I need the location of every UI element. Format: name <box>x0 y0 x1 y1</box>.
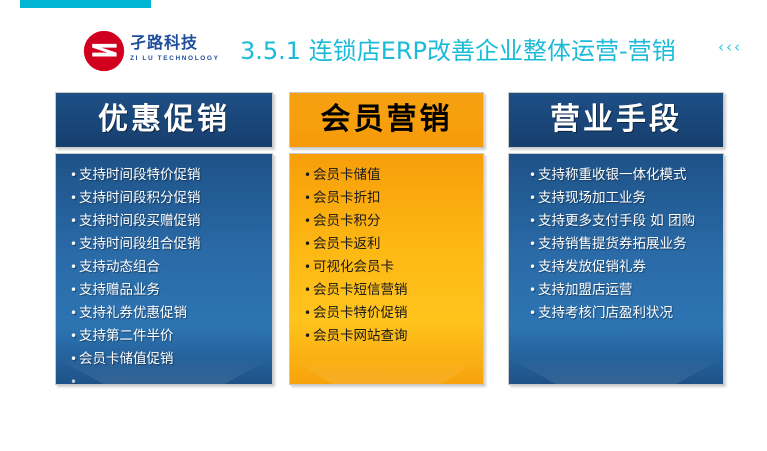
list-item: 会员卡储值 <box>304 164 483 187</box>
column-list-business-methods: 支持称重收银一体化模式 支持现场加工业务 支持更多支付手段 如 团购 支持销售提… <box>509 154 723 325</box>
list-item: 支持销售提货券拓展业务 <box>529 233 723 256</box>
column-header-business-methods: 营业手段 <box>508 92 724 148</box>
column-title: 营业手段 <box>550 103 682 137</box>
column-body-member-marketing: 会员卡储值 会员卡折扣 会员卡积分 会员卡返利 可视化会员卡 会员卡短信营销 会… <box>289 153 484 385</box>
top-accent-bar <box>20 0 151 8</box>
column-header-member-marketing: 会员营销 <box>289 92 484 148</box>
list-item: 会员卡储值促销 <box>70 348 272 371</box>
list-item: 支持时间段特价促销 <box>70 164 272 187</box>
column-header-promotions: 优惠促销 <box>55 92 273 148</box>
list-item: 支持时间段组合促销 <box>70 233 272 256</box>
list-item: 支持加盟店运营 <box>529 279 723 302</box>
company-logo: 孑路科技 ZI LU TECHNOLOGY <box>83 28 238 74</box>
column-body-business-methods: 支持称重收银一体化模式 支持现场加工业务 支持更多支付手段 如 团购 支持销售提… <box>508 153 724 385</box>
list-item: 支持赠品业务 <box>70 279 272 302</box>
list-item: 会员卡折扣 <box>304 187 483 210</box>
content-columns: 优惠促销 支持时间段特价促销 支持时间段积分促销 支持时间段买赠促销 支持时间段… <box>0 92 767 392</box>
logo-text-block: 孑路科技 ZI LU TECHNOLOGY <box>130 34 238 63</box>
list-item: 支持时间段买赠促销 <box>70 210 272 233</box>
list-item: 会员卡网站查询 <box>304 325 483 348</box>
list-item: … … <box>70 371 272 385</box>
chevron-left-icon: ‹ <box>726 40 732 55</box>
column-list-member-marketing: 会员卡储值 会员卡折扣 会员卡积分 会员卡返利 可视化会员卡 会员卡短信营销 会… <box>290 154 483 348</box>
list-item: 支持动态组合 <box>70 256 272 279</box>
list-item: 会员卡积分 <box>304 210 483 233</box>
logo-company-en: ZI LU TECHNOLOGY <box>130 54 238 63</box>
column-title: 会员营销 <box>321 103 453 137</box>
slide-header: 孑路科技 ZI LU TECHNOLOGY 3.5.1 连锁店ERP改善企业整体… <box>0 12 767 72</box>
column-business-methods: 营业手段 支持称重收银一体化模式 支持现场加工业务 支持更多支付手段 如 团购 … <box>508 92 724 385</box>
list-item: 支持时间段积分促销 <box>70 187 272 210</box>
list-item: 会员卡特价促销 <box>304 302 483 325</box>
list-item: 支持更多支付手段 如 团购 <box>529 210 723 233</box>
list-item: 支持发放促销礼券 <box>529 256 723 279</box>
column-body-promotions: 支持时间段特价促销 支持时间段积分促销 支持时间段买赠促销 支持时间段组合促销 … <box>55 153 273 385</box>
list-item: 支持考核门店盈利状况 <box>529 302 723 325</box>
logo-company-cn: 孑路科技 <box>130 34 238 52</box>
chevron-left-icon: ‹ <box>718 40 724 55</box>
column-member-marketing: 会员营销 会员卡储值 会员卡折扣 会员卡积分 会员卡返利 可视化会员卡 会员卡短… <box>289 92 484 385</box>
list-item: 支持现场加工业务 <box>529 187 723 210</box>
list-item: 支持称重收银一体化模式 <box>529 164 723 187</box>
list-item: 支持第二件半价 <box>70 325 272 348</box>
zilu-logo-mark-icon <box>83 30 125 72</box>
chevron-left-icon: ‹ <box>734 40 740 55</box>
column-promotions: 优惠促销 支持时间段特价促销 支持时间段积分促销 支持时间段买赠促销 支持时间段… <box>55 92 273 385</box>
column-title: 优惠促销 <box>98 103 230 137</box>
column-list-promotions: 支持时间段特价促销 支持时间段积分促销 支持时间段买赠促销 支持时间段组合促销 … <box>56 154 272 385</box>
list-item: 会员卡短信营销 <box>304 279 483 302</box>
list-item: 会员卡返利 <box>304 233 483 256</box>
page-title: 3.5.1 连锁店ERP改善企业整体运营-营销 <box>240 31 676 66</box>
chevron-decoration: ‹ ‹ ‹ <box>718 40 740 55</box>
list-item: 可视化会员卡 <box>304 256 483 279</box>
list-item: 支持礼券优惠促销 <box>70 302 272 325</box>
